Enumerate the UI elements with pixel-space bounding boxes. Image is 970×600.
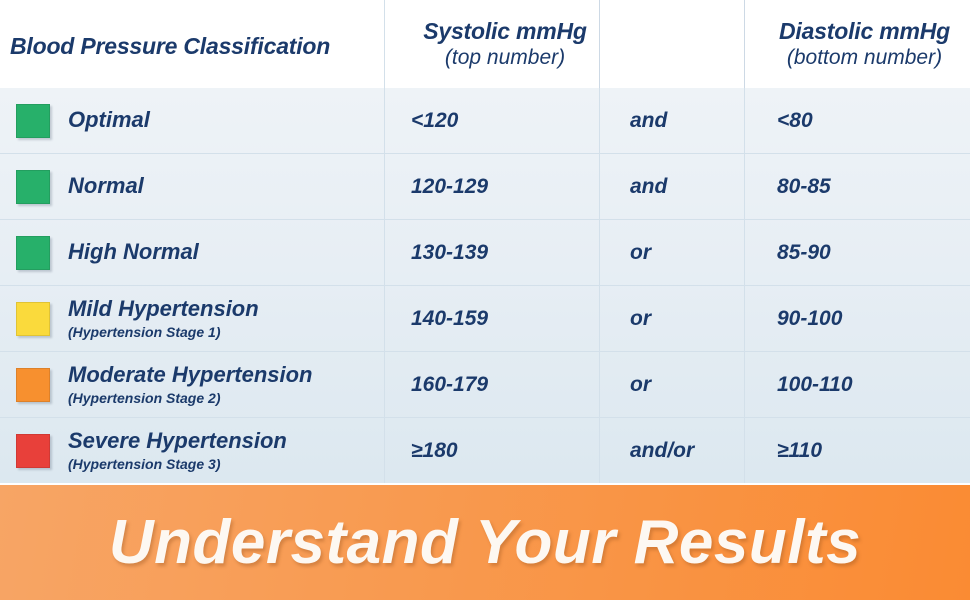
- severity-color-swatch-icon: [16, 368, 50, 402]
- column-header-diastolic-subtitle: (bottom number): [787, 46, 942, 70]
- classification-text: High Normal: [68, 240, 199, 264]
- severity-color-swatch-icon: [16, 236, 50, 270]
- classification-name: Normal: [68, 174, 144, 198]
- table-row: Moderate Hypertension (Hypertension Stag…: [0, 352, 970, 418]
- table-row: High Normal 130-139 or 85-90: [0, 220, 970, 286]
- diastolic-value: 85-90: [745, 220, 970, 285]
- systolic-value: 130-139: [385, 220, 600, 285]
- column-header-systolic: Systolic mmHg (top number): [385, 0, 600, 88]
- table-row: Optimal <120 and <80: [0, 88, 970, 154]
- classification-name: High Normal: [68, 240, 199, 264]
- column-header-classification-title: Blood Pressure Classification: [10, 34, 330, 60]
- classification-name: Optimal: [68, 108, 150, 132]
- severity-color-swatch-icon: [16, 434, 50, 468]
- diastolic-value: 90-100: [745, 286, 970, 351]
- column-header-connector: [600, 0, 745, 88]
- severity-color-swatch-icon: [16, 104, 50, 138]
- classification-stage: (Hypertension Stage 1): [68, 324, 259, 340]
- classification-cell: Moderate Hypertension (Hypertension Stag…: [0, 352, 385, 417]
- diastolic-value: 100-110: [745, 352, 970, 417]
- classification-name: Mild Hypertension: [68, 297, 259, 321]
- connector-value: and/or: [600, 418, 745, 483]
- systolic-value: ≥180: [385, 418, 600, 483]
- systolic-value: 160-179: [385, 352, 600, 417]
- table-row: Mild Hypertension (Hypertension Stage 1)…: [0, 286, 970, 352]
- classification-stage: (Hypertension Stage 3): [68, 456, 287, 472]
- connector-value: or: [600, 286, 745, 351]
- classification-text: Severe Hypertension (Hypertension Stage …: [68, 429, 287, 471]
- classification-text: Mild Hypertension (Hypertension Stage 1): [68, 297, 259, 339]
- classification-cell: Normal: [0, 154, 385, 219]
- severity-color-swatch-icon: [16, 170, 50, 204]
- column-header-systolic-subtitle: (top number): [445, 46, 565, 70]
- systolic-value: <120: [385, 88, 600, 153]
- classification-text: Normal: [68, 174, 144, 198]
- column-header-diastolic: Diastolic mmHg (bottom number): [745, 0, 970, 88]
- classification-text: Moderate Hypertension (Hypertension Stag…: [68, 363, 313, 405]
- blood-pressure-chart: Blood Pressure Classification Systolic m…: [0, 0, 970, 600]
- systolic-value: 140-159: [385, 286, 600, 351]
- classification-cell: Severe Hypertension (Hypertension Stage …: [0, 418, 385, 483]
- connector-value: and: [600, 154, 745, 219]
- classification-cell: Optimal: [0, 88, 385, 153]
- diastolic-value: 80-85: [745, 154, 970, 219]
- connector-value: or: [600, 352, 745, 417]
- classification-cell: Mild Hypertension (Hypertension Stage 1): [0, 286, 385, 351]
- column-header-classification: Blood Pressure Classification: [0, 0, 385, 88]
- table-row: Severe Hypertension (Hypertension Stage …: [0, 418, 970, 483]
- systolic-value: 120-129: [385, 154, 600, 219]
- column-header-systolic-title: Systolic mmHg: [423, 19, 587, 45]
- classification-name: Severe Hypertension: [68, 429, 287, 453]
- classification-text: Optimal: [68, 108, 150, 132]
- table-body: Optimal <120 and <80 Normal 120-129 and …: [0, 88, 970, 483]
- classification-cell: High Normal: [0, 220, 385, 285]
- severity-color-swatch-icon: [16, 302, 50, 336]
- connector-value: or: [600, 220, 745, 285]
- column-header-diastolic-title: Diastolic mmHg: [779, 19, 950, 45]
- classification-stage: (Hypertension Stage 2): [68, 390, 313, 406]
- diastolic-value: <80: [745, 88, 970, 153]
- table-row: Normal 120-129 and 80-85: [0, 154, 970, 220]
- connector-value: and: [600, 88, 745, 153]
- call-to-action-banner: Understand Your Results: [0, 483, 970, 600]
- diastolic-value: ≥110: [745, 418, 970, 483]
- table-header-row: Blood Pressure Classification Systolic m…: [0, 0, 970, 88]
- banner-headline: Understand Your Results: [109, 507, 861, 578]
- classification-name: Moderate Hypertension: [68, 363, 313, 387]
